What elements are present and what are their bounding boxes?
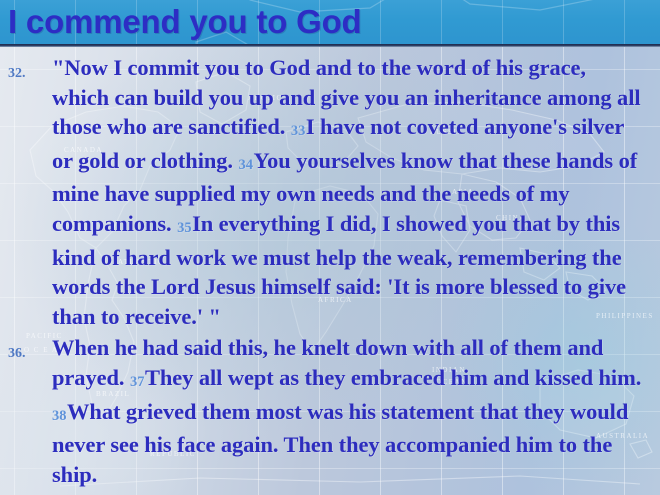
passage-block-32: 32. "Now I commit you to God and to the … — [0, 47, 660, 331]
slide-canvas: PACIFICO C E A NATLANTICINDIANOCEANAUSTR… — [0, 0, 660, 495]
passage-marker-36: 36. — [8, 339, 26, 369]
passage-text-32: "Now I commit you to God and to the word… — [52, 55, 641, 329]
passage-text-36: When he had said this, he knelt down wit… — [52, 335, 641, 486]
passage-marker-32: 32. — [8, 59, 26, 89]
verse-text: What grieved them most was his statement… — [52, 399, 628, 487]
passage-block-36: 36. When he had said this, he knelt down… — [0, 331, 660, 489]
title-band: I commend you to God — [0, 0, 660, 44]
verse-number: 33 — [291, 123, 306, 139]
verse-number: 38 — [52, 408, 67, 424]
page-title: I commend you to God — [8, 1, 362, 43]
verse-text: They all wept as they embraced him and k… — [145, 365, 641, 390]
verse-number: 34 — [238, 157, 253, 173]
verse-number: 37 — [130, 374, 145, 390]
verse-number: 35 — [177, 220, 192, 236]
slide-body: 32. "Now I commit you to God and to the … — [0, 47, 660, 495]
